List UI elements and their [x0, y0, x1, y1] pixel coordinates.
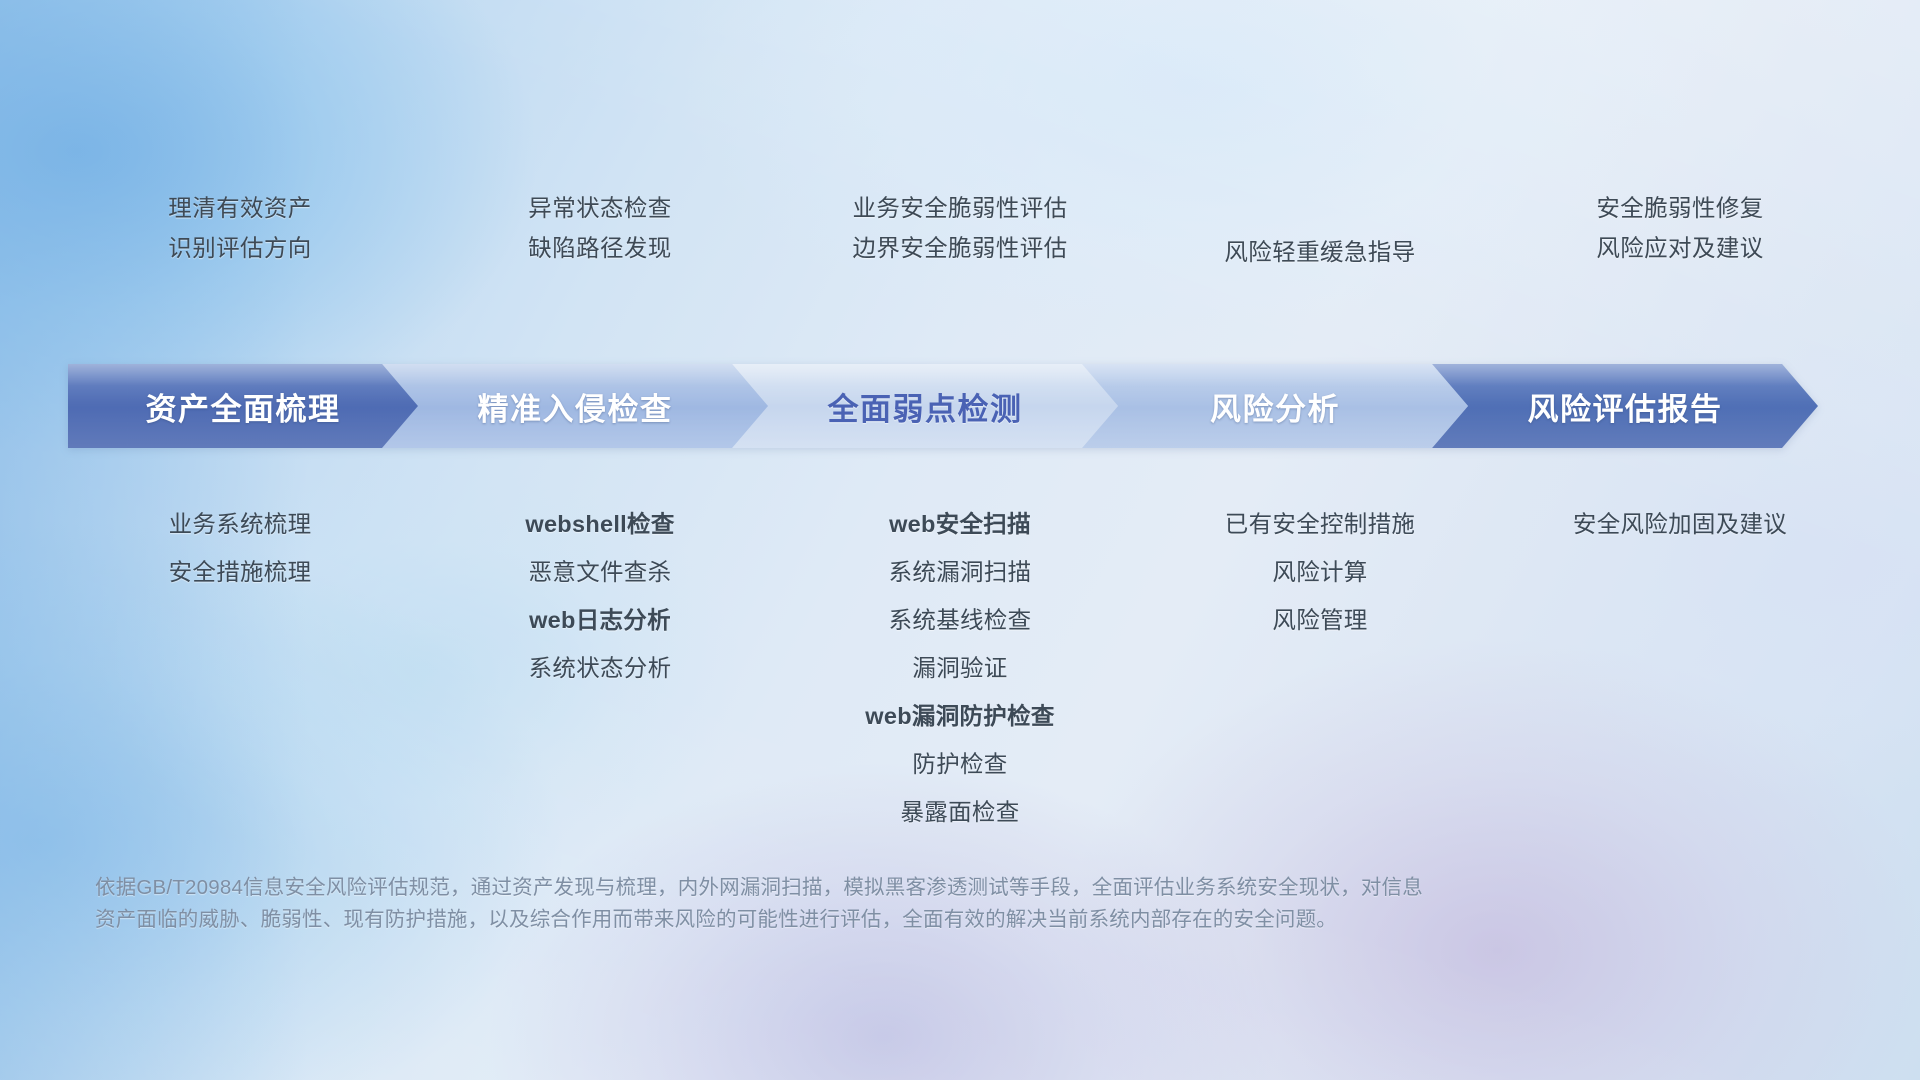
list-item: 风险计算	[1272, 548, 1367, 596]
top-caption-item: 业务安全脆弱性评估	[852, 188, 1067, 228]
chevron-label: 全面弱点检测	[828, 384, 1023, 429]
list-item: 漏洞验证	[912, 644, 1007, 692]
top-captions-stage-4: 风险轻重缓急指导	[1140, 188, 1500, 298]
top-caption-item: 风险应对及建议	[1596, 228, 1763, 268]
bottom-list-stage-2: webshell检查 恶意文件查杀 web日志分析 系统状态分析	[420, 500, 780, 850]
list-item: 暴露面检查	[901, 788, 1020, 836]
list-item: web安全扫描	[889, 500, 1031, 548]
slide-canvas: 理清有效资产 识别评估方向 异常状态检查 缺陷路径发现 业务安全脆弱性评估 边界…	[0, 0, 1920, 1080]
list-item: 已有安全控制措施	[1225, 500, 1415, 548]
list-item: 防护检查	[912, 740, 1007, 788]
stage-bottom-lists-row: 业务系统梳理 安全措施梳理 webshell检查 恶意文件查杀 web日志分析 …	[60, 500, 1860, 850]
list-item: 恶意文件查杀	[529, 548, 672, 596]
list-item: 系统基线检查	[889, 596, 1032, 644]
list-item: webshell检查	[525, 500, 674, 548]
process-chevron-banner: 资产全面梳理 精准入侵检查 全面弱点检测 风险分析 风险评估报告	[68, 364, 1858, 448]
top-caption-item: 识别评估方向	[168, 228, 311, 268]
chevron-label: 资产全面梳理	[146, 384, 341, 429]
top-caption-item: 理清有效资产	[168, 188, 311, 228]
chevron-label: 风险评估报告	[1528, 384, 1723, 429]
chevron-label: 风险分析	[1210, 384, 1340, 429]
chevron-stage-1[interactable]: 资产全面梳理	[68, 364, 418, 448]
chevron-label: 精准入侵检查	[478, 384, 673, 429]
top-captions-stage-3: 业务安全脆弱性评估 边界安全脆弱性评估	[780, 188, 1140, 298]
top-caption-item: 异常状态检查	[528, 188, 671, 228]
chevron-stage-5[interactable]: 风险评估报告	[1432, 364, 1818, 448]
stage-top-captions-row: 理清有效资产 识别评估方向 异常状态检查 缺陷路径发现 业务安全脆弱性评估 边界…	[60, 188, 1860, 298]
list-item: 系统漏洞扫描	[889, 548, 1032, 596]
chevron-stage-3[interactable]: 全面弱点检测	[732, 364, 1118, 448]
list-item: 安全措施梳理	[169, 548, 312, 596]
chevron-stage-4[interactable]: 风险分析	[1082, 364, 1468, 448]
list-item: 安全风险加固及建议	[1573, 500, 1787, 548]
list-item: web漏洞防护检查	[865, 692, 1054, 740]
top-caption-item: 风险轻重缓急指导	[1224, 232, 1415, 272]
footer-line: 依据GB/T20984信息安全风险评估规范，通过资产发现与梳理，内外网漏洞扫描，…	[95, 872, 1785, 904]
top-caption-item: 缺陷路径发现	[528, 228, 671, 268]
list-item: 风险管理	[1272, 596, 1367, 644]
top-captions-stage-5: 安全脆弱性修复 风险应对及建议	[1500, 188, 1860, 298]
footer-description: 依据GB/T20984信息安全风险评估规范，通过资产发现与梳理，内外网漏洞扫描，…	[95, 872, 1785, 936]
top-captions-stage-2: 异常状态检查 缺陷路径发现	[420, 188, 780, 298]
footer-line: 资产面临的威胁、脆弱性、现有防护措施，以及综合作用而带来风险的可能性进行评估，全…	[95, 904, 1785, 936]
bottom-list-stage-3: web安全扫描 系统漏洞扫描 系统基线检查 漏洞验证 web漏洞防护检查 防护检…	[780, 500, 1140, 850]
top-caption-item: 边界安全脆弱性评估	[852, 228, 1067, 268]
list-item: 业务系统梳理	[169, 500, 312, 548]
bottom-list-stage-1: 业务系统梳理 安全措施梳理	[60, 500, 420, 850]
list-item: web日志分析	[529, 596, 671, 644]
bottom-list-stage-5: 安全风险加固及建议	[1500, 500, 1860, 850]
chevron-stage-2[interactable]: 精准入侵检查	[382, 364, 768, 448]
top-captions-stage-1: 理清有效资产 识别评估方向	[60, 188, 420, 298]
bottom-list-stage-4: 已有安全控制措施 风险计算 风险管理	[1140, 500, 1500, 850]
top-caption-item: 安全脆弱性修复	[1596, 188, 1763, 228]
list-item: 系统状态分析	[529, 644, 672, 692]
